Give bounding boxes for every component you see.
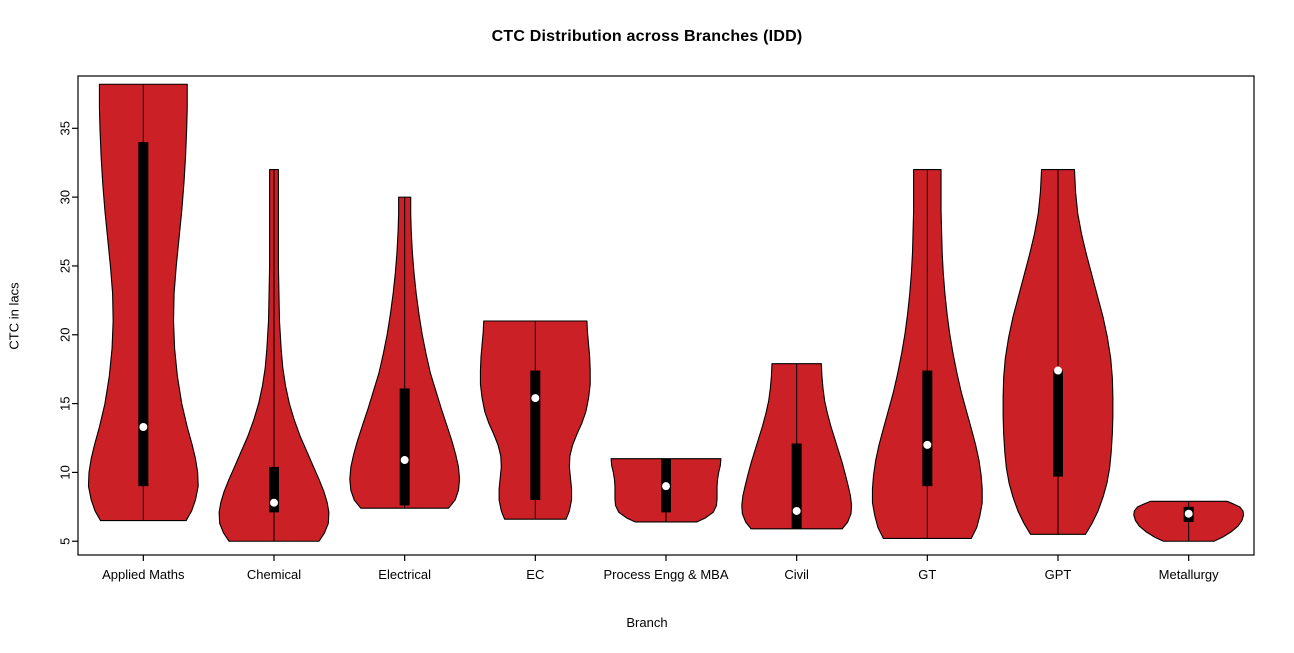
violin-group — [1134, 501, 1244, 541]
violin-group — [350, 197, 460, 508]
violin-iqr-box — [400, 388, 410, 505]
violin-group — [611, 459, 721, 522]
x-axis-tick-label: Civil — [784, 567, 809, 582]
x-axis-tick-label: Electrical — [378, 567, 431, 582]
y-axis: 5101520253035 — [58, 121, 79, 545]
violin-group — [1003, 170, 1113, 535]
violin-iqr-box — [138, 142, 148, 486]
violin-iqr-box — [922, 371, 932, 487]
violin-median-dot — [793, 507, 801, 515]
x-axis-tick-label: Chemical — [247, 567, 301, 582]
x-axis-tick-label: EC — [526, 567, 544, 582]
violin-iqr-box — [530, 371, 540, 500]
violin-iqr-box — [1053, 371, 1063, 477]
violin-median-dot — [139, 423, 147, 431]
violin-median-dot — [1185, 510, 1193, 518]
y-axis-tick-label: 30 — [58, 190, 73, 204]
violin-group — [872, 170, 982, 539]
x-axis: Applied MathsChemicalElectricalECProcess… — [102, 555, 1219, 582]
violin-median-dot — [270, 499, 278, 507]
y-axis-tick-label: 35 — [58, 121, 73, 135]
y-axis-tick-label: 10 — [58, 465, 73, 479]
violin-group — [219, 170, 329, 542]
violin-iqr-box — [792, 444, 802, 529]
x-axis-tick-label: Applied Maths — [102, 567, 185, 582]
x-axis-tick-label: GPT — [1045, 567, 1072, 582]
violin-plot-figure: CTC Distribution across Branches (IDD) C… — [0, 0, 1294, 653]
violin-group — [88, 84, 198, 520]
y-axis-tick-label: 15 — [58, 396, 73, 410]
y-axis-tick-label: 5 — [58, 538, 73, 545]
y-axis-tick-label: 20 — [58, 328, 73, 342]
violin-median-dot — [401, 456, 409, 464]
violin-median-dot — [662, 482, 670, 490]
violin-series-group — [88, 84, 1243, 541]
violin-median-dot — [531, 394, 539, 402]
y-axis-tick-label: 25 — [58, 259, 73, 273]
x-axis-tick-label: GT — [918, 567, 936, 582]
violin-group — [480, 321, 590, 519]
x-axis-tick-label: Metallurgy — [1159, 567, 1219, 582]
violin-group — [742, 364, 852, 529]
violin-median-dot — [1054, 367, 1062, 375]
violin-median-dot — [923, 441, 931, 449]
plot-canvas: 5101520253035 Applied MathsChemicalElect… — [0, 0, 1294, 653]
x-axis-tick-label: Process Engg & MBA — [604, 567, 729, 582]
